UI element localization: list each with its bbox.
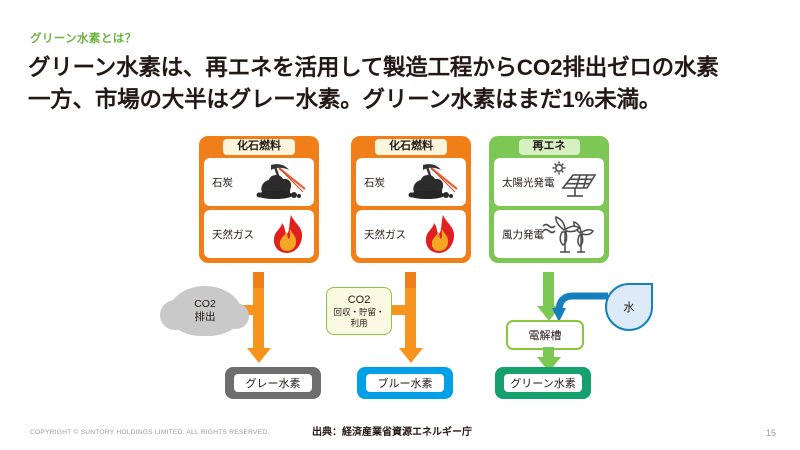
coal-pickaxe-icon bbox=[245, 162, 309, 202]
source-row-label: 風力発電 bbox=[502, 227, 544, 242]
arrow-head-down-grey bbox=[247, 348, 271, 363]
column-header-label: 化石燃料 bbox=[375, 139, 447, 156]
page-number: 15 bbox=[766, 428, 776, 438]
arrow-shaft-grey bbox=[253, 288, 264, 350]
source-column-fossil-blue: 化石燃料 石炭 天然ガス bbox=[351, 136, 471, 263]
column-header: 再エネ bbox=[489, 136, 609, 158]
column-header: 化石燃料 bbox=[199, 136, 319, 158]
headline-line-2: 一方、市場の大半はグレー水素。グリーン水素はまだ1%未満。 bbox=[28, 84, 776, 116]
source-row-label: 石炭 bbox=[364, 175, 385, 190]
flame-icon bbox=[421, 213, 461, 255]
source-row-solar: 太陽光発電 bbox=[494, 158, 604, 206]
electrolyzer-box: 電解槽 bbox=[506, 320, 584, 350]
result-label: ブルー水素 bbox=[366, 374, 444, 392]
ccus-box: CO2 回収・貯留・ 利用 bbox=[326, 287, 392, 335]
source-column-renewable: 再エネ 太陽光発電 bbox=[489, 136, 609, 263]
headline-line-1: グリーン水素は、再エネを活用して製造工程からCO2排出ゼロの水素 bbox=[28, 55, 719, 80]
result-box-green-hydrogen: グリーン水素 bbox=[495, 367, 591, 399]
result-box-grey-hydrogen: グレー水素 bbox=[225, 367, 321, 399]
coal-pickaxe-icon bbox=[397, 162, 461, 202]
page-title: グリーン水素は、再エネを活用して製造工程からCO2排出ゼロの水素 一方、市場の大… bbox=[28, 52, 776, 116]
source-row-natural-gas: 天然ガス bbox=[204, 210, 314, 258]
source-row-label: 石炭 bbox=[212, 175, 233, 190]
co2-emission-cloud: CO2 排出 bbox=[168, 286, 242, 336]
arrow-shaft-blue bbox=[405, 288, 416, 350]
result-label: グリーン水素 bbox=[504, 374, 582, 392]
ccus-line-2: 回収・貯留・ bbox=[329, 307, 389, 318]
arrow-head-down-blue bbox=[399, 348, 423, 363]
result-label: グレー水素 bbox=[234, 374, 312, 392]
column-header-label: 化石燃料 bbox=[223, 139, 295, 156]
flame-icon bbox=[269, 213, 309, 255]
eyebrow-label: グリーン水素とは？ bbox=[30, 30, 137, 46]
electrolyzer-label: 電解槽 bbox=[529, 327, 562, 343]
water-drop: 水 bbox=[605, 283, 653, 331]
result-box-blue-hydrogen: ブルー水素 bbox=[357, 367, 453, 399]
solar-panel-icon bbox=[543, 160, 599, 204]
ccus-line-1: CO2 bbox=[329, 293, 389, 307]
source-column-fossil-grey: 化石燃料 石炭 天然ガス bbox=[199, 136, 319, 263]
source-row-wind: 風力発電 bbox=[494, 210, 604, 258]
source-row-label: 天然ガス bbox=[364, 227, 406, 242]
source-row-natural-gas: 天然ガス bbox=[356, 210, 466, 258]
slide: グリーン水素とは？ グリーン水素は、再エネを活用して製造工程からCO2排出ゼロの… bbox=[0, 0, 800, 450]
source-citation: 出典：経済産業省資源エネルギー庁 bbox=[312, 423, 472, 438]
co2-cloud-line-1: CO2 bbox=[194, 298, 216, 311]
water-drop-label: 水 bbox=[623, 299, 635, 315]
source-row-label: 天然ガス bbox=[212, 227, 254, 242]
column-header: 化石燃料 bbox=[351, 136, 471, 158]
ccus-line-3: 利用 bbox=[329, 318, 389, 329]
source-row-coal: 石炭 bbox=[204, 158, 314, 206]
co2-cloud-line-2: 排出 bbox=[195, 311, 216, 324]
wind-turbine-icon bbox=[541, 212, 599, 256]
column-header-label: 再エネ bbox=[519, 139, 580, 156]
copyright-text: COPYRIGHT © SUNTORY HOLDINGS LIMITED. AL… bbox=[30, 429, 269, 436]
source-row-coal: 石炭 bbox=[356, 158, 466, 206]
